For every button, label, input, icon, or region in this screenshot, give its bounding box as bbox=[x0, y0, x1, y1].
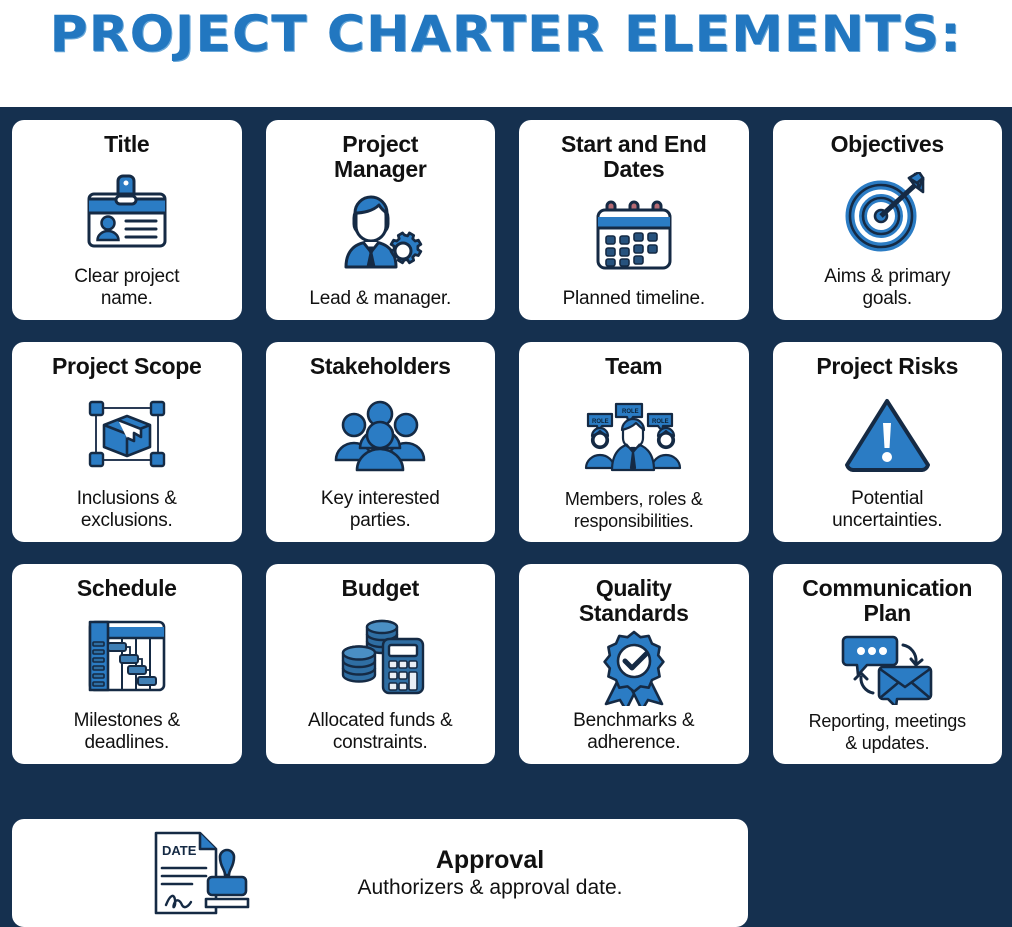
card-description: Lead & manager. bbox=[309, 288, 451, 310]
chat-envelope-icon bbox=[781, 626, 995, 710]
card-description: Key interested parties. bbox=[321, 488, 440, 532]
gantt-chart-icon bbox=[20, 601, 234, 710]
cards-grid: Title bbox=[12, 120, 1002, 764]
team-roles-icon: ROLE ROLE ROLE bbox=[527, 379, 741, 488]
card-project-manager[interactable]: Project Manager bbox=[266, 120, 496, 320]
card-description: Clear project name. bbox=[74, 266, 179, 310]
card-heading: Quality Standards bbox=[579, 576, 689, 626]
coins-calculator-icon bbox=[274, 601, 488, 710]
card-budget[interactable]: Budget bbox=[266, 564, 496, 764]
card-description: Allocated funds & constraints. bbox=[308, 710, 452, 754]
card-start-end-dates[interactable]: Start and End Dates bbox=[519, 120, 749, 320]
document-stamp-icon: DATE bbox=[22, 827, 272, 919]
approval-heading: Approval bbox=[436, 846, 544, 875]
card-heading: Schedule bbox=[77, 576, 177, 601]
card-description: Milestones & deadlines. bbox=[74, 710, 180, 754]
card-project-scope[interactable]: Project Scope bbox=[12, 342, 242, 542]
card-heading: Budget bbox=[342, 576, 419, 601]
card-heading: Stakeholders bbox=[310, 354, 451, 379]
svg-text:ROLE: ROLE bbox=[622, 409, 639, 415]
manager-gear-icon bbox=[274, 182, 488, 288]
document-date-label: DATE bbox=[162, 843, 197, 858]
card-description: Potential uncertainties. bbox=[832, 488, 942, 532]
card-description: Benchmarks & adherence. bbox=[573, 710, 694, 754]
svg-text:ROLE: ROLE bbox=[592, 419, 609, 425]
id-badge-icon bbox=[20, 157, 234, 266]
svg-text:ROLE: ROLE bbox=[652, 419, 669, 425]
card-heading: Start and End Dates bbox=[561, 132, 707, 182]
card-heading: Team bbox=[605, 354, 662, 379]
card-stakeholders[interactable]: Stakeholders bbox=[266, 342, 496, 542]
card-description: Reporting, meetings & updates. bbox=[809, 710, 966, 754]
card-schedule[interactable]: Schedule bbox=[12, 564, 242, 764]
card-description: Members, roles & responsibilities. bbox=[565, 488, 703, 532]
calendar-icon bbox=[527, 182, 741, 288]
cards-board: Title bbox=[0, 107, 1012, 927]
card-heading: Project Risks bbox=[816, 354, 958, 379]
page-title: PROJECT CHARTER ELEMENTS: bbox=[50, 4, 962, 64]
card-approval[interactable]: DATE Approval Authorizers & approval dat… bbox=[12, 819, 748, 927]
approval-description: Authorizers & approval date. bbox=[358, 875, 623, 900]
quality-badge-icon bbox=[527, 626, 741, 710]
card-heading: Communication Plan bbox=[802, 576, 972, 626]
target-arrow-icon bbox=[781, 157, 995, 266]
card-heading: Project Scope bbox=[52, 354, 202, 379]
card-heading: Objectives bbox=[831, 132, 944, 157]
header: PROJECT CHARTER ELEMENTS: bbox=[0, 0, 1012, 107]
card-description: Inclusions & exclusions. bbox=[77, 488, 177, 532]
card-description: Planned timeline. bbox=[563, 288, 705, 310]
box-scope-icon bbox=[20, 379, 234, 488]
card-quality-standards[interactable]: Quality Standards Benchmarks & adherence… bbox=[519, 564, 749, 764]
card-heading: Project Manager bbox=[334, 132, 426, 182]
infographic-page: PROJECT CHARTER ELEMENTS: Title bbox=[0, 0, 1012, 927]
card-description: Aims & primary goals. bbox=[824, 266, 950, 310]
card-communication-plan[interactable]: Communication Plan bbox=[773, 564, 1003, 764]
approval-text: Approval Authorizers & approval date. bbox=[272, 846, 738, 900]
warning-triangle-icon bbox=[781, 379, 995, 488]
card-heading: Title bbox=[104, 132, 149, 157]
card-title[interactable]: Title bbox=[12, 120, 242, 320]
card-project-risks[interactable]: Project Risks Potential uncertainties. bbox=[773, 342, 1003, 542]
card-team[interactable]: Team ROLE ROLE ROLE bbox=[519, 342, 749, 542]
people-group-icon bbox=[274, 379, 488, 488]
card-objectives[interactable]: Objectives bbox=[773, 120, 1003, 320]
